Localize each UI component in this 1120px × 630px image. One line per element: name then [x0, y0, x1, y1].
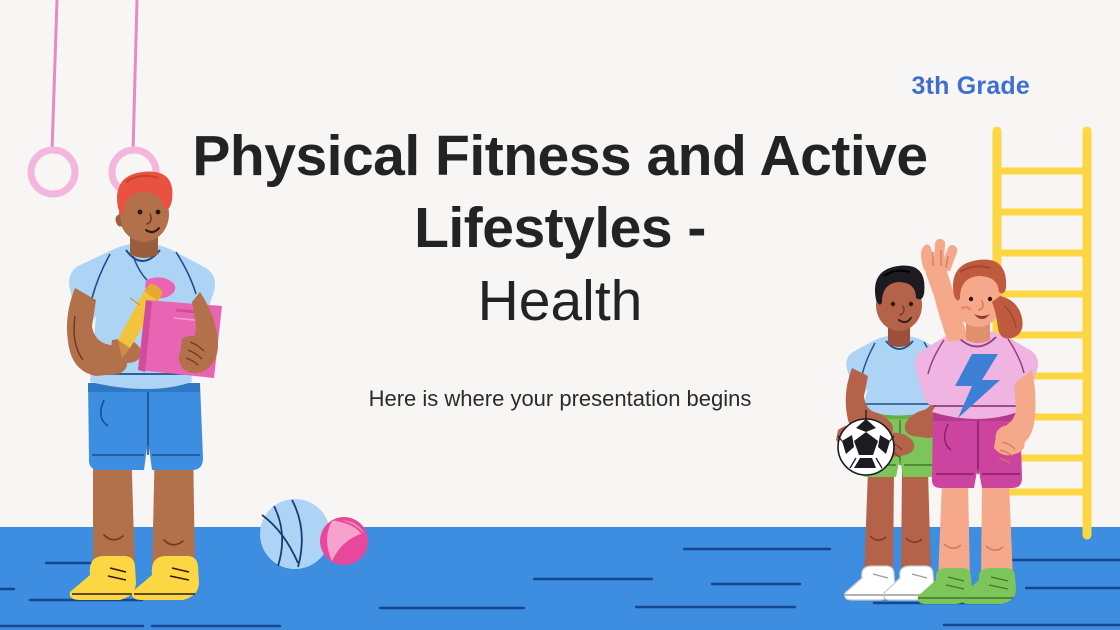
girl-eye-left: [969, 297, 973, 301]
title-line-primary: Physical Fitness and Active Lifestyles -: [180, 120, 940, 265]
girl-eye-right: [988, 297, 992, 301]
slide-title: Physical Fitness and Active Lifestyles -…: [180, 120, 940, 337]
presentation-slide: 3th Grade Physical Fitness and Active Li…: [0, 0, 1120, 630]
grade-label: 3th Grade: [912, 72, 1031, 101]
girl-ponytail: [992, 296, 1023, 339]
title-line-secondary: Health: [180, 265, 940, 337]
slide-subtitle: Here is where your presentation begins: [180, 386, 940, 412]
